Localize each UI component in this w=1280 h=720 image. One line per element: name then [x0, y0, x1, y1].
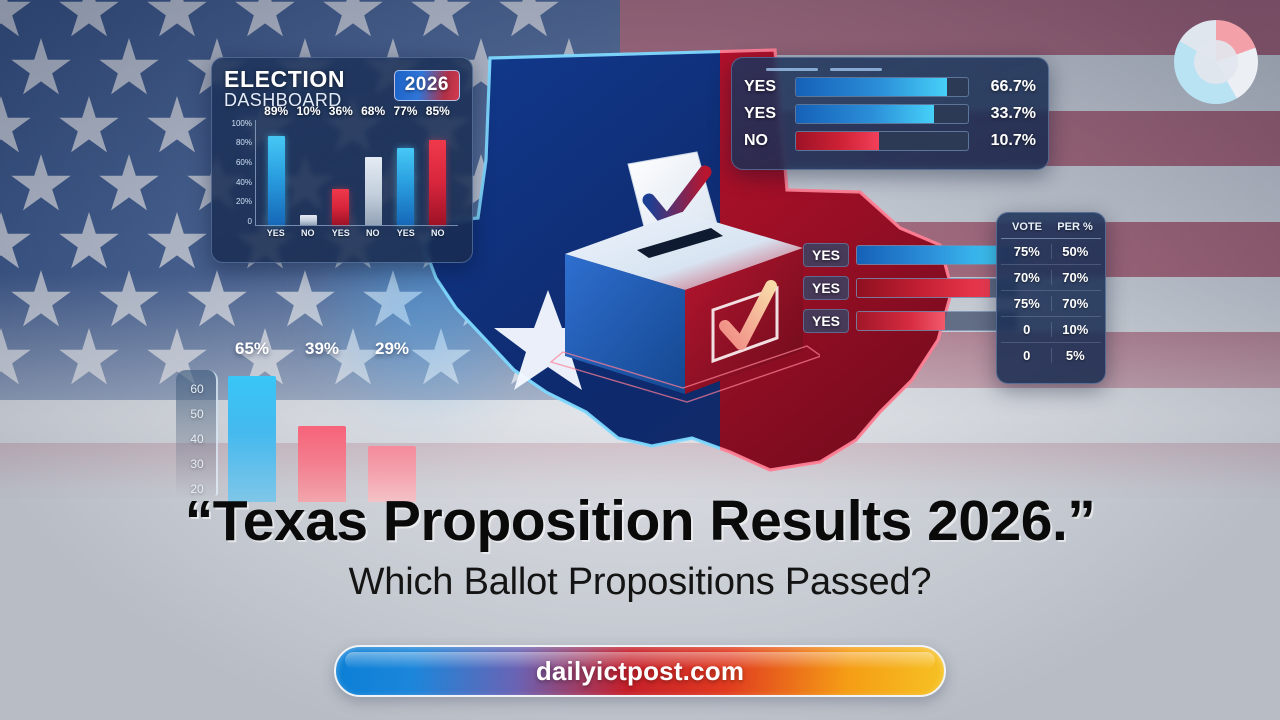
- proposition-bar-fill: [857, 279, 990, 297]
- table-column-header: PER %: [1051, 221, 1099, 233]
- secondary-y-tick: 60: [190, 382, 203, 396]
- secondary-chart-y-axis: 6050403020: [182, 382, 212, 496]
- year-badge[interactable]: 2026: [394, 70, 460, 101]
- title-block: “Texas Proposition Results 2026.” Which …: [0, 492, 1280, 604]
- bar-column: 68%: [365, 120, 382, 225]
- vote-progress-track: [795, 77, 969, 97]
- bar-column: 36%: [332, 120, 349, 225]
- vote-row-label: YES: [744, 78, 786, 96]
- secondary-bar-column: 29%: [368, 362, 416, 502]
- page-title: “Texas Proposition Results 2026.”: [0, 492, 1280, 551]
- proposition-bar-track: [856, 245, 1018, 265]
- table-row: 05%: [1001, 343, 1101, 368]
- vote-row-label: NO: [744, 132, 786, 150]
- page-subtitle: Which Ballot Propositions Passed?: [0, 561, 1280, 604]
- bar-value-label: 89%: [264, 104, 288, 118]
- bar: [300, 215, 317, 225]
- proposition-vote-tag: YES: [803, 309, 849, 333]
- bar-value-label: 85%: [426, 104, 450, 118]
- table-cell: 50%: [1052, 244, 1100, 259]
- x-tick-label: YES: [397, 228, 414, 238]
- bar: [332, 189, 349, 225]
- bar: [429, 140, 446, 225]
- table-cell: 75%: [1003, 296, 1052, 311]
- vote-progress-row: YES33.7%: [744, 104, 1036, 124]
- vote-percentage-label: 10.7%: [978, 132, 1036, 150]
- secondary-chart-axis-panel: 6050403020: [176, 370, 218, 496]
- proposition-bar-track: [856, 278, 1018, 298]
- dashboard-bar-chart: 100%80%60%40%20%0 89%10%36%68%77%85% YES…: [224, 120, 460, 245]
- proposition-row: YES: [803, 243, 1018, 267]
- bar-column: 85%: [429, 120, 446, 225]
- x-tick-label: NO: [364, 228, 381, 238]
- bar-value-label: 10%: [296, 104, 320, 118]
- bar-value-label: 77%: [393, 104, 417, 118]
- table-row: 75%50%: [1001, 239, 1101, 265]
- vote-progress-panel[interactable]: YES66.7%YES33.7%NO10.7%: [731, 57, 1049, 170]
- table-row: 75%70%: [1001, 291, 1101, 317]
- bar: [397, 148, 414, 225]
- bar: [365, 157, 382, 225]
- placeholder-line-1: [766, 68, 818, 71]
- secondary-bar-column: 39%: [298, 362, 346, 502]
- table-body: 75%50%70%70%75%70%010%05%: [1001, 239, 1101, 368]
- proposition-bar-fill: [857, 312, 945, 330]
- x-tick-label: YES: [332, 228, 349, 238]
- election-dashboard-panel[interactable]: ELECTION DASHBOARD 2026 100%80%60%40%20%…: [211, 57, 473, 263]
- bar-column: 89%: [268, 120, 285, 225]
- poster-canvas: ELECTION DASHBOARD 2026 100%80%60%40%20%…: [0, 0, 1280, 720]
- vote-progress-fill: [796, 78, 947, 96]
- x-tick-label: NO: [429, 228, 446, 238]
- vote-progress-row: NO10.7%: [744, 131, 1036, 151]
- website-button[interactable]: dailyictpost.com: [334, 645, 946, 697]
- secondary-bar-value: 39%: [305, 339, 339, 359]
- dashboard-x-axis: YESNOYESNOYESNO: [255, 228, 458, 238]
- table-cell: 10%: [1052, 322, 1100, 337]
- bar-value-label: 36%: [329, 104, 353, 118]
- table-cell: 0: [1003, 348, 1052, 363]
- vote-percentage-table[interactable]: VOTEPER % 75%50%70%70%75%70%010%05%: [996, 212, 1106, 384]
- proposition-row: YES: [803, 276, 1018, 300]
- proposition-result-bars: YESYESYES: [803, 243, 1018, 342]
- table-cell: 5%: [1052, 348, 1100, 363]
- y-tick-label: 80%: [236, 139, 252, 147]
- ballot-box-illustration: [545, 150, 820, 410]
- dashboard-y-axis: 100%80%60%40%20%0: [224, 120, 252, 226]
- x-tick-label: NO: [299, 228, 316, 238]
- bar-value-label: 68%: [361, 104, 385, 118]
- panel-placeholder-lines: [766, 68, 1036, 71]
- proposition-bar-fill: [857, 246, 998, 264]
- proposition-bar-track: [856, 311, 1018, 331]
- table-row: 70%70%: [1001, 265, 1101, 291]
- x-tick-label: YES: [267, 228, 284, 238]
- vote-percentage-label: 33.7%: [978, 105, 1036, 123]
- y-tick-label: 100%: [232, 120, 252, 128]
- secondary-y-tick: 50: [190, 407, 203, 421]
- proposition-row: YES: [803, 309, 1018, 333]
- secondary-bar-value: 65%: [235, 339, 269, 359]
- website-pill-wrap: dailyictpost.com: [0, 645, 1280, 697]
- table-row: 010%: [1001, 317, 1101, 343]
- secondary-y-tick: 40: [190, 432, 203, 446]
- proposition-vote-tag: YES: [803, 243, 849, 267]
- vote-percentage-label: 66.7%: [978, 78, 1036, 96]
- proposition-vote-tag: YES: [803, 276, 849, 300]
- vote-progress-track: [795, 131, 969, 151]
- table-cell: 0: [1003, 322, 1052, 337]
- secondary-bar-column: 65%: [228, 362, 276, 502]
- dashboard-plot-area: 89%10%36%68%77%85%: [255, 120, 458, 226]
- y-tick-label: 60%: [236, 159, 252, 167]
- bar: [268, 136, 285, 225]
- y-tick-label: 40%: [236, 179, 252, 187]
- vote-progress-track: [795, 104, 969, 124]
- table-column-header: VOTE: [1003, 221, 1051, 233]
- vote-row-label: YES: [744, 105, 786, 123]
- vote-progress-row: YES66.7%: [744, 77, 1036, 97]
- secondary-bar-value: 29%: [375, 339, 409, 359]
- bar-column: 10%: [300, 120, 317, 225]
- dashboard-title-line1: ELECTION: [224, 68, 345, 91]
- secondary-chart-bars: 65%39%29%: [228, 362, 441, 502]
- website-label: dailyictpost.com: [536, 656, 744, 687]
- secondary-y-tick: 30: [190, 457, 203, 471]
- vote-progress-fill: [796, 105, 934, 123]
- table-cell: 70%: [1052, 296, 1100, 311]
- vote-progress-fill: [796, 132, 879, 150]
- table-cell: 70%: [1052, 270, 1100, 285]
- y-tick-label: 0: [248, 218, 252, 226]
- table-header-row: VOTEPER %: [1001, 219, 1101, 239]
- table-cell: 70%: [1003, 270, 1052, 285]
- y-tick-label: 20%: [236, 198, 252, 206]
- placeholder-line-2: [830, 68, 882, 71]
- bar-column: 77%: [397, 120, 414, 225]
- secondary-bar-chart: 6050403020 65%39%29%: [176, 362, 441, 502]
- secondary-bar: [228, 376, 276, 502]
- vote-progress-rows: YES66.7%YES33.7%NO10.7%: [744, 77, 1036, 151]
- table-cell: 75%: [1003, 244, 1052, 259]
